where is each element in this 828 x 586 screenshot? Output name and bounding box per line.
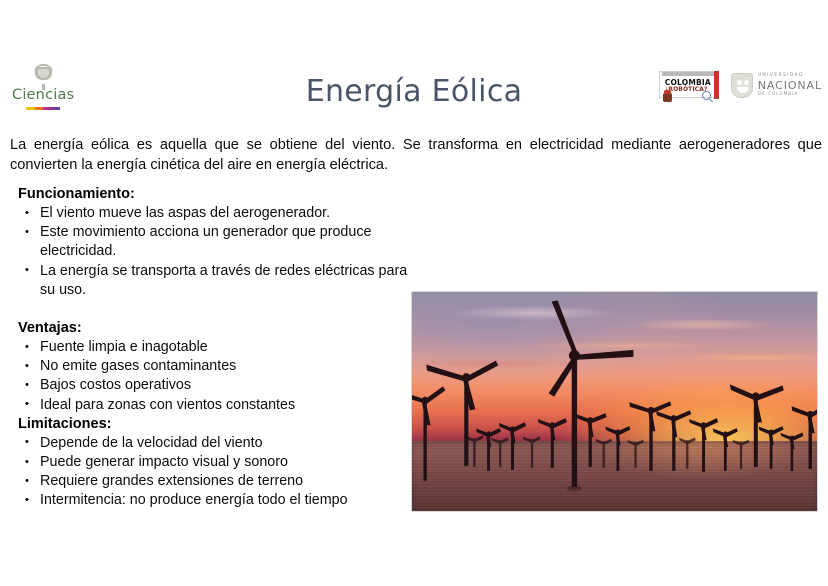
list-item: Este movimiento acciona un generador que… (18, 223, 418, 261)
list-item: Requiere grandes extensiones de terreno (18, 472, 418, 491)
content-body: Funcionamiento: El viento mueve las aspa… (18, 185, 418, 511)
list-item: Puede generar impacto visual y sonoro (18, 453, 418, 472)
unal-line2: NACIONAL (758, 80, 822, 91)
list-item: Ideal para zonas con vientos constantes (18, 396, 418, 415)
colombia-robotica-line2: ¿ROBÓTICA? (665, 86, 708, 93)
list-item: La energía se transporta a través de red… (18, 262, 418, 300)
unal-crest-icon (731, 73, 753, 98)
bullet-list-funcionamiento: El viento mueve las aspas del aerogenera… (18, 204, 418, 300)
header-logos: COLOMBIA ¿ROBÓTICA? UNIVERSIDAD NACIONAL… (658, 68, 822, 102)
section-funcionamiento: Funcionamiento: El viento mueve las aspa… (18, 185, 418, 300)
section-spacer (18, 300, 418, 319)
list-item: Fuente limpia e inagotable (18, 338, 418, 357)
list-item: No emite gases contaminantes (18, 357, 418, 376)
section-heading-ventajas: Ventajas: (18, 319, 418, 338)
magnifier-icon (702, 91, 711, 100)
list-item: Bajos costos operativos (18, 376, 418, 395)
bullet-list-ventajas: Fuente limpia e inagotable No emite gase… (18, 338, 418, 415)
robot-icon (663, 93, 672, 102)
wind-farm-photo (411, 291, 818, 512)
section-limitaciones: Limitaciones: Depende de la velocidad de… (18, 415, 418, 511)
unal-line1: UNIVERSIDAD (758, 74, 822, 79)
wind-turbines-graphic (412, 292, 817, 511)
list-item: El viento mueve las aspas del aerogenera… (18, 204, 418, 223)
slide-header: Ciencias Energía Eólica COLOMBIA ¿ROBÓTI… (0, 0, 828, 128)
unal-line3: DE COLOMBIA (758, 92, 822, 96)
section-heading-limitaciones: Limitaciones: (18, 415, 418, 434)
colombia-robotica-logo: COLOMBIA ¿ROBÓTICA? (658, 68, 721, 102)
list-item: Depende de la velocidad del viento (18, 434, 418, 453)
section-ventajas: Ventajas: Fuente limpia e inagotable No … (18, 319, 418, 415)
bullet-list-limitaciones: Depende de la velocidad del viento Puede… (18, 434, 418, 511)
section-heading-funcionamiento: Funcionamiento: (18, 185, 418, 204)
list-item: Intermitencia: no produce energía todo e… (18, 491, 418, 510)
intro-paragraph: La energía eólica es aquella que se obti… (10, 136, 822, 175)
universidad-nacional-logo: UNIVERSIDAD NACIONAL DE COLOMBIA (731, 73, 822, 98)
